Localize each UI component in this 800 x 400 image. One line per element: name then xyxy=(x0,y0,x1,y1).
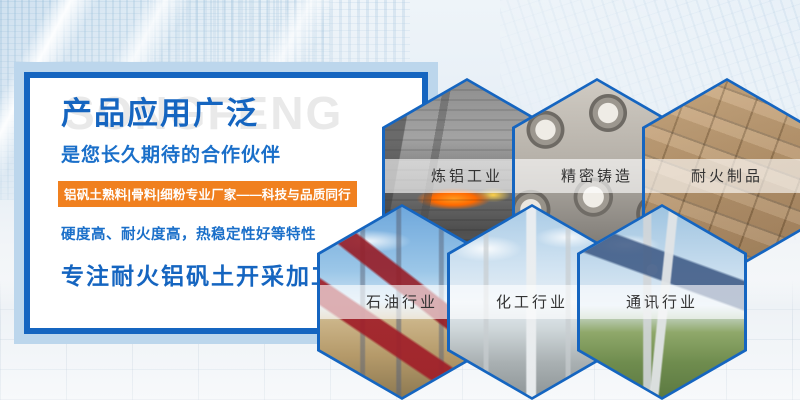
hexagon-grid: 炼铝工业 精密铸造 耐火制品 石油行业 化工行业 xyxy=(0,0,800,400)
banner-stage: SONGFENG 产品应用广泛 是您长久期待的合作伙伴 铝矾土熟料|骨料|细粉专… xyxy=(0,0,800,400)
hexagon-label: 耐火制品 xyxy=(645,159,800,193)
hexagon-label: 通讯行业 xyxy=(580,285,744,319)
